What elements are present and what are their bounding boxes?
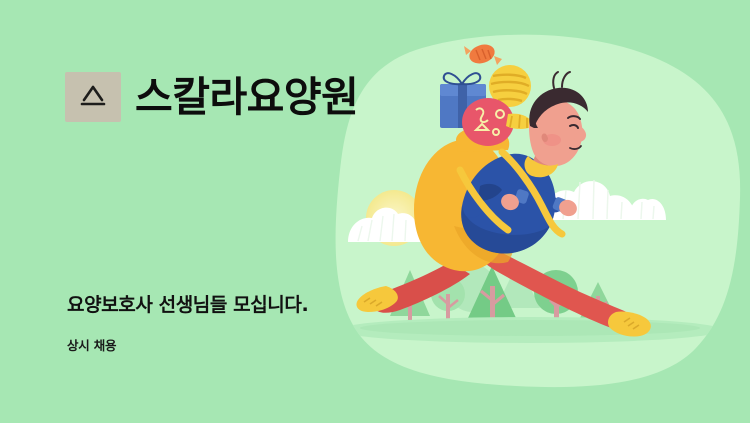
- brand-block: 스칼라요양원: [65, 72, 358, 122]
- brand-name: 스칼라요양원: [135, 77, 358, 118]
- illustration-running-man: [330, 30, 750, 390]
- headline: 요양보호사 선생님들 모십니다.: [67, 294, 367, 318]
- siot-mark-icon: [78, 83, 108, 111]
- subline: 상시 채용: [67, 335, 367, 354]
- ball-red-patterned: [462, 98, 514, 146]
- recruitment-poster: 스칼라요양원 요양보호사 선생님들 모십니다. 상시 채용: [0, 0, 750, 423]
- copy-block: 요양보호사 선생님들 모십니다. 상시 채용: [67, 294, 367, 354]
- logo-mark: [65, 72, 121, 122]
